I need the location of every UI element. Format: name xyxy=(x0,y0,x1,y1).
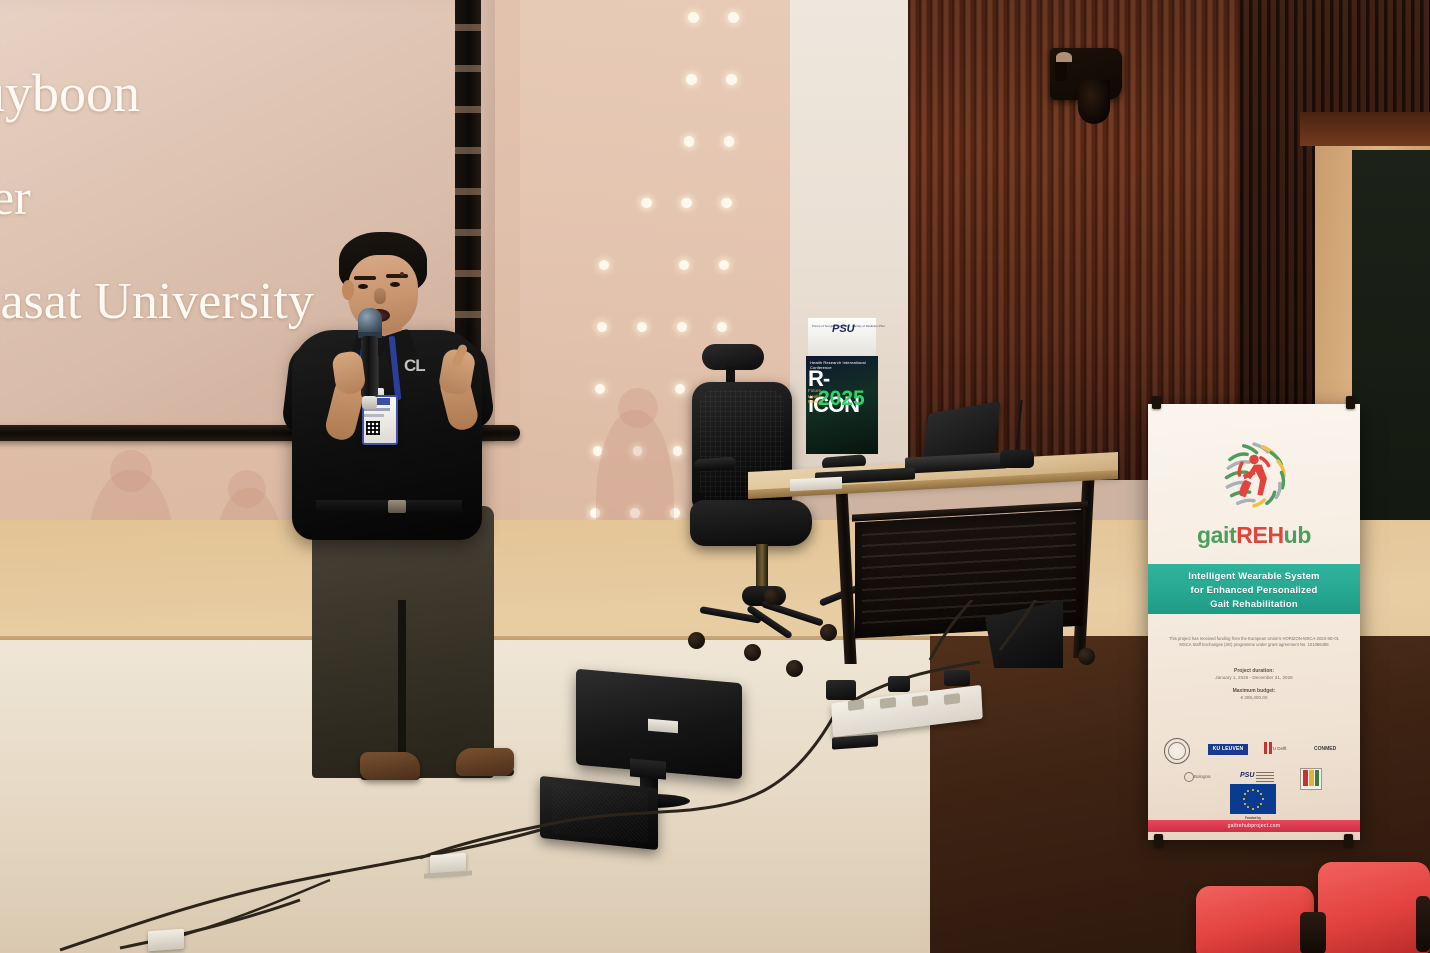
microphone-base xyxy=(362,396,377,409)
auditorium-seat-armrest xyxy=(1300,912,1326,953)
gaitrehub-wordmark: gaitREHub xyxy=(1148,522,1360,549)
wall-dot-light xyxy=(724,136,735,147)
wall-dot-light xyxy=(728,12,739,23)
auditorium-seat[interactable] xyxy=(1318,862,1430,953)
wall-dot-light xyxy=(726,74,737,85)
silhouette-head xyxy=(228,470,266,508)
banner-clip xyxy=(1152,396,1161,409)
slide-line-3: masat University xyxy=(0,272,314,331)
wall-dot-light xyxy=(688,12,699,23)
chair-seat[interactable] xyxy=(690,500,812,546)
wordmark-gait: gait xyxy=(1197,522,1236,548)
power-strip-socket[interactable] xyxy=(880,697,897,709)
power-adapter xyxy=(888,676,910,692)
gaitrehub-logo-icon xyxy=(1211,432,1297,518)
presenter-nose xyxy=(374,288,386,304)
presenter-eyebrow-left xyxy=(354,276,376,280)
presenter-eyebrow-right xyxy=(386,274,408,278)
presenter-belt-buckle xyxy=(388,500,406,513)
wordmark-reh: REH xyxy=(1236,522,1283,548)
doorway-header xyxy=(1300,112,1430,146)
ricon-org-text-right: Faculty of Medicine PSU xyxy=(852,325,885,329)
presenter-eye-left xyxy=(358,284,368,289)
slide-line-2: ter xyxy=(0,168,31,226)
slide-line-1: uyboon xyxy=(0,62,140,124)
power-adapter xyxy=(826,680,856,700)
auditorium-seat[interactable] xyxy=(1196,886,1314,953)
power-strip-socket[interactable] xyxy=(944,693,961,705)
wall-dot-light xyxy=(595,384,605,394)
presenter-ear xyxy=(342,280,354,300)
power-adapter xyxy=(944,670,970,686)
silhouette-head xyxy=(110,450,152,492)
wall-speaker-cone xyxy=(1078,80,1110,124)
wall-speaker-highlight xyxy=(1056,52,1072,62)
wordmark-ub: ub xyxy=(1284,522,1311,548)
ricon-banner-year: 2025 xyxy=(818,387,865,411)
chair-gas-cylinder xyxy=(756,544,768,592)
wall-dot-light xyxy=(684,136,695,147)
power-strip-socket[interactable] xyxy=(848,699,865,711)
auditorium-seat-armrest xyxy=(1416,896,1430,952)
badge-text-line xyxy=(364,414,384,417)
wall-dot-light xyxy=(673,446,683,456)
wall-dot-light xyxy=(686,74,697,85)
wireless-mic-receiver xyxy=(1000,450,1034,468)
banner-clip xyxy=(1346,396,1355,409)
badge-qr-code xyxy=(366,421,380,435)
wall-dot-light xyxy=(675,384,685,394)
floor-outlet[interactable] xyxy=(148,929,184,952)
presenter-shirt-logo: CL xyxy=(404,356,425,376)
photo-scene: uyboon ter masat University Prince of So… xyxy=(0,0,1430,953)
presenter-mole xyxy=(400,272,404,276)
microphone-body[interactable] xyxy=(361,336,378,398)
power-strip-socket[interactable] xyxy=(912,695,929,707)
silhouette-head xyxy=(618,388,658,428)
presenter-eye-right xyxy=(390,282,400,287)
